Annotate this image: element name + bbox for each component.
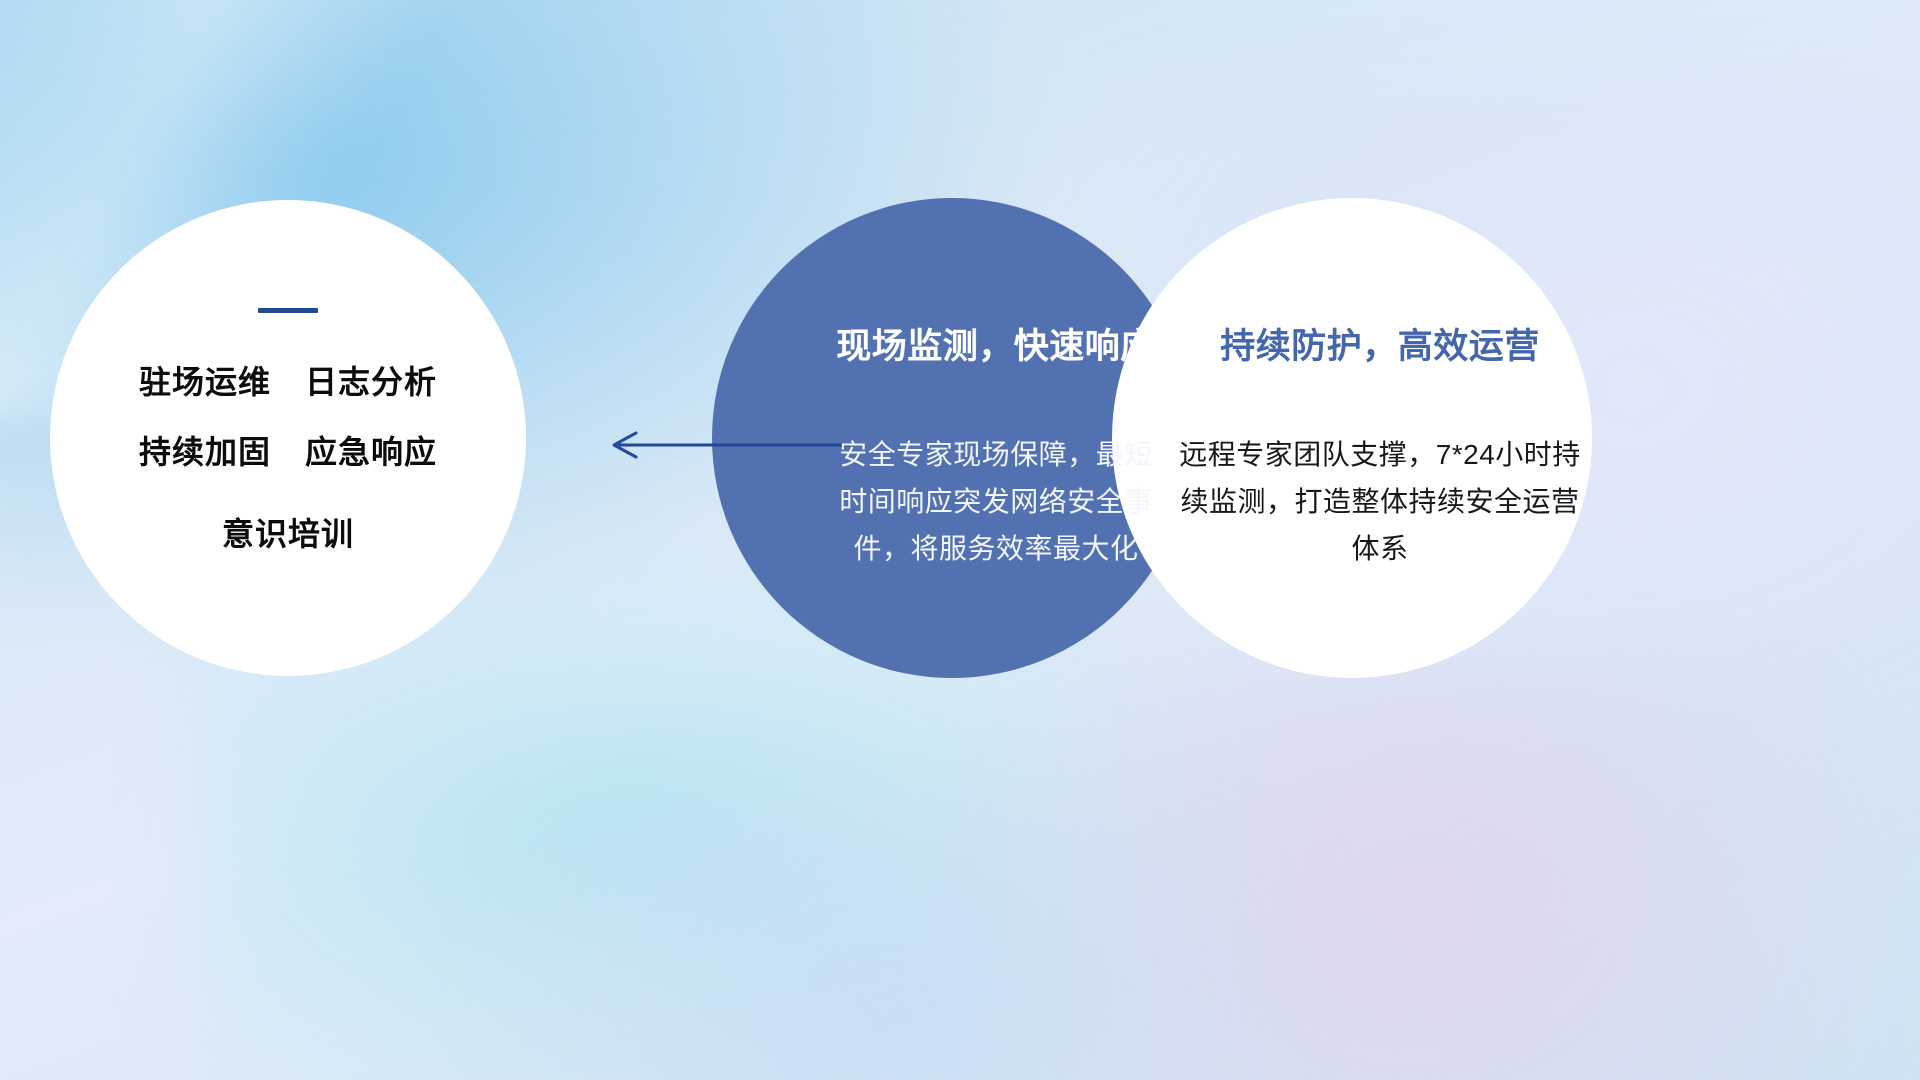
right-circle-content: 持续防护，高效运营 远程专家团队支撑，7*24小时持续监测，打造整体持续安全运营…	[1112, 198, 1592, 678]
keyword-item: 日志分析	[305, 357, 437, 403]
middle-circle-body: 安全专家现场保障，最短时间响应突发网络安全事件，将服务效率最大化	[837, 431, 1155, 572]
keyword-item: 应急响应	[305, 427, 437, 473]
keyword-row: 意识培训	[222, 509, 354, 555]
left-circle-content: 驻场运维 日志分析 持续加固 应急响应 意识培训	[50, 200, 526, 676]
right-circle-body: 远程专家团队支撑，7*24小时持续监测，打造整体持续安全运营体系	[1176, 431, 1584, 572]
accent-dash-divider	[258, 308, 318, 313]
keyword-item: 驻场运维	[139, 357, 271, 403]
middle-circle-title: 现场监测，快速响应	[836, 318, 1156, 369]
background-glow-bottom-center	[461, 799, 1306, 1080]
keyword-item: 持续加固	[139, 427, 271, 473]
keyword-item: 意识培训	[222, 509, 354, 555]
keyword-row: 驻场运维 日志分析	[139, 357, 437, 403]
slide-canvas: 驻场运维 日志分析 持续加固 应急响应 意识培训 现场监测，快速响应 安全专家现…	[0, 0, 1920, 1080]
right-circle-title: 持续防护，高效运营	[1220, 318, 1540, 369]
keyword-row: 持续加固 应急响应	[139, 427, 437, 473]
